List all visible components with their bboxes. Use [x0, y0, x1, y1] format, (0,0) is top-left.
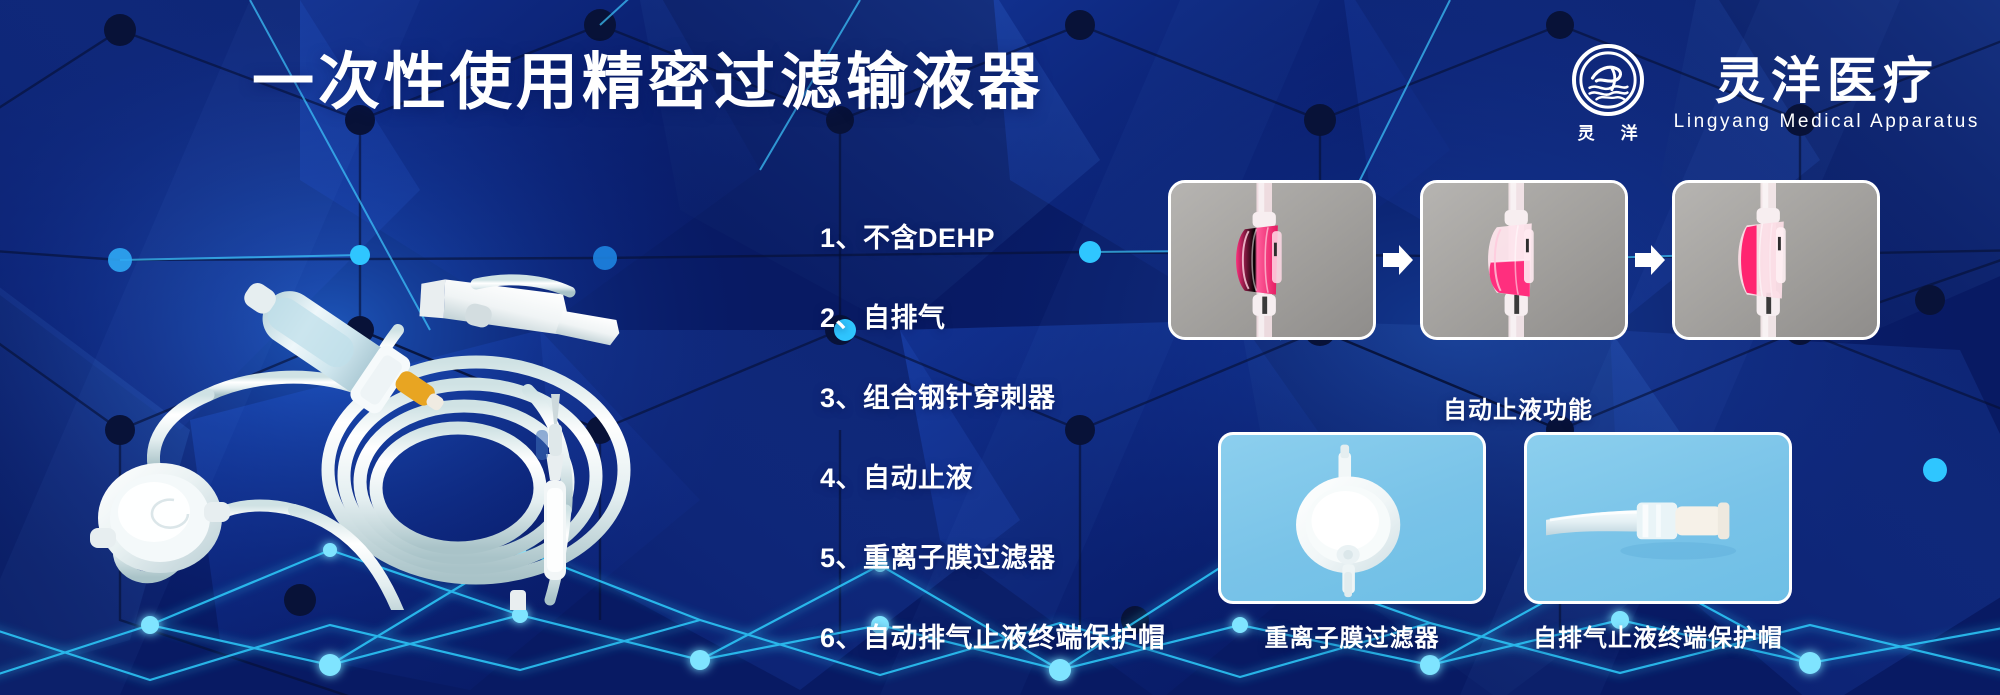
- heavy-ion-membrane-filter-photo: [1218, 432, 1486, 604]
- arrow-right-icon: [1628, 243, 1672, 277]
- feature-item-2: 2、自排气: [820, 296, 1166, 335]
- panel-self-venting-cap: 自排气止液终端保护帽: [1524, 432, 1792, 653]
- emblem-sub-right: 洋: [1621, 119, 1638, 144]
- banner-title: 一次性使用精密过滤输液器: [252, 48, 1044, 117]
- registered-trademark-icon: ®: [1631, 47, 1643, 65]
- auto-stop-sequence: [1168, 180, 1880, 340]
- feature-item-3: 3、组合钢针穿刺器: [820, 376, 1166, 415]
- detail-panels: 重离子膜过滤器: [1218, 432, 1792, 653]
- company-name-cn: 灵洋医疗: [1715, 55, 1939, 108]
- panel-caption-cap: 自排气止液终端保护帽: [1533, 618, 1783, 653]
- panel-caption-filter: 重离子膜过滤器: [1265, 618, 1440, 653]
- emblem-sub-left: 灵: [1578, 119, 1595, 144]
- feature-item-5: 5、重离子膜过滤器: [820, 536, 1166, 575]
- company-logo: ® 灵 洋 灵洋医疗 Lingyang Medical Apparatus: [1560, 44, 1980, 144]
- iv-infusion-set-photo: [58, 180, 798, 610]
- company-name-en: Lingyang Medical Apparatus: [1674, 111, 1980, 133]
- sequence-photo-chamber-half: [1420, 180, 1628, 340]
- logo-emblem: ® 灵 洋: [1560, 44, 1656, 144]
- sequence-caption: 自动止液功能: [1168, 390, 1868, 425]
- sequence-photo-chamber-full: [1168, 180, 1376, 340]
- logo-wordmark: 灵洋医疗 Lingyang Medical Apparatus: [1674, 55, 1980, 133]
- self-venting-terminal-cap-photo: [1524, 432, 1792, 604]
- feature-item-1: 1、不含DEHP: [820, 216, 1166, 255]
- panel-heavy-ion-membrane-filter: 重离子膜过滤器: [1218, 432, 1486, 653]
- feature-list: 1、不含DEHP 2、自排气 3、组合钢针穿刺器 4、自动止液 5、重离子膜过滤…: [820, 216, 1166, 655]
- feature-item-4: 4、自动止液: [820, 456, 1166, 495]
- arrow-right-icon: [1376, 243, 1420, 277]
- feature-item-6: 6、自动排气止液终端保护帽: [820, 616, 1166, 655]
- lingyang-circular-emblem-icon: ®: [1572, 44, 1644, 116]
- product-banner: 一次性使用精密过滤输液器 ® 灵 洋 灵洋医疗 Lingya: [0, 0, 2000, 695]
- sequence-photo-chamber-stopped: [1672, 180, 1880, 340]
